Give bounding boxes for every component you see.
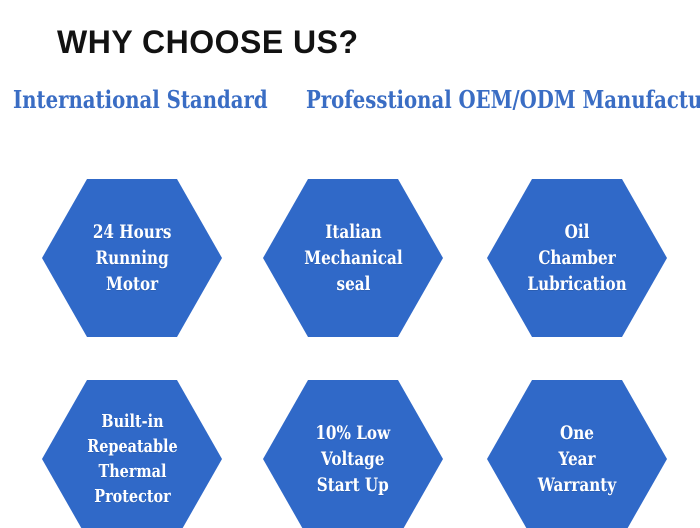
feature-label: Oil Chamber Lubrication [526,219,628,297]
feature-hexagon-italian-mechanical-seal[interactable]: Italian Mechanical seal [263,179,443,337]
feature-hexagon-oil-chamber-lubrication[interactable]: Oil Chamber Lubrication [487,179,667,337]
feature-label: Italian Mechanical seal [302,219,404,297]
feature-hexagon-grid: 24 Hours Running Motor Italian Mechanica… [0,0,700,528]
why-choose-us-slide: WHY CHOOSE US? International Standard Pr… [0,0,700,528]
feature-label: 24 Hours Running Motor [91,219,173,297]
feature-hexagon-24-hours-running-motor[interactable]: 24 Hours Running Motor [42,179,222,337]
feature-hexagon-one-year-warranty[interactable]: One Year Warranty [487,380,667,528]
feature-label: 10% Low Voltage Start Up [314,420,392,498]
feature-label: Built-in Repeatable Thermal Protector [85,409,179,509]
feature-label: One Year Warranty [536,420,618,498]
feature-hexagon-10-percent-low-voltage-start-up[interactable]: 10% Low Voltage Start Up [263,380,443,528]
feature-hexagon-built-in-repeatable-thermal-protector[interactable]: Built-in Repeatable Thermal Protector [42,380,222,528]
